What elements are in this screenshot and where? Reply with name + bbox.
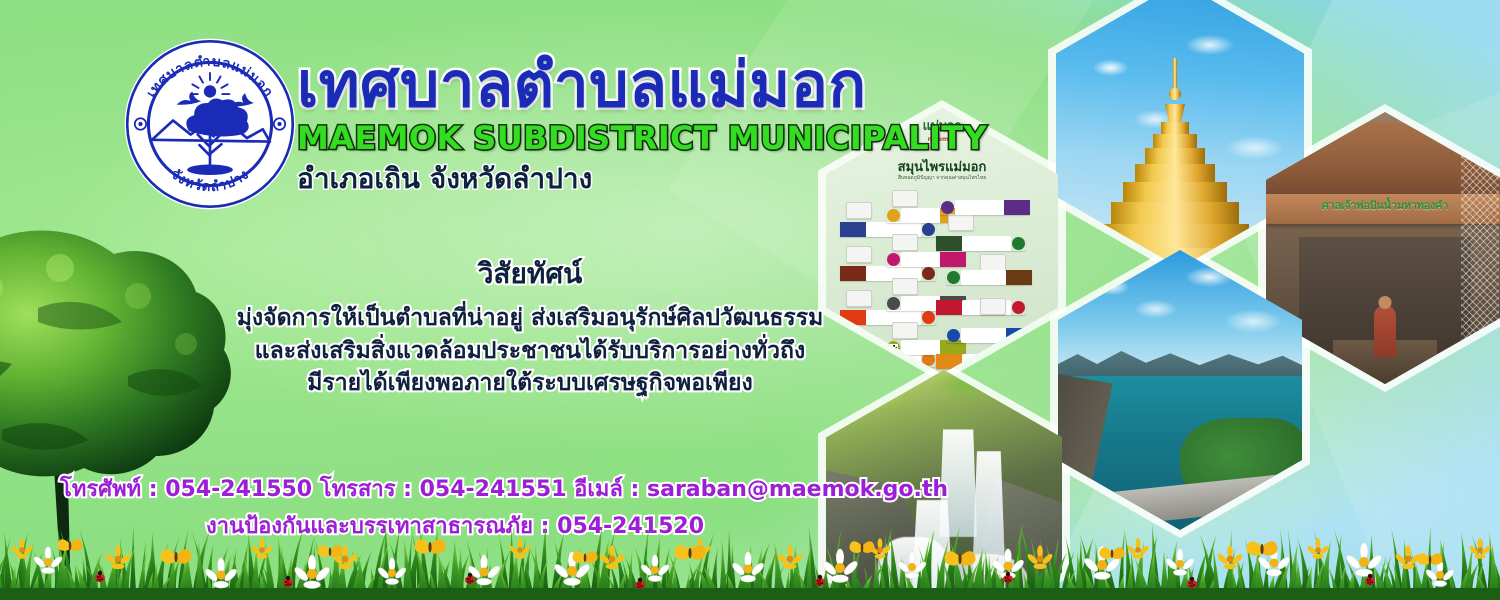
buddha-statue-icon xyxy=(1374,305,1396,357)
page-title-english: MAEMOK SUBDISTRICT MUNICIPALITY xyxy=(297,121,957,156)
header-title-block: เทศบาลตำบลแม่มอก MAEMOK SUBDISTRICT MUNI… xyxy=(297,52,957,196)
vision-line-2: และส่งเสริมสิ่งแวดล้อมประชาชนได้รับบริกา… xyxy=(230,335,830,368)
municipality-seal-logo: เทศบาลตำบลแม่มอก จังหวัดลำปาง xyxy=(122,36,298,212)
contact-line-primary[interactable]: โทรศัพท์ : 054-241550 โทรสาร : 054-24155… xyxy=(60,473,850,506)
vision-line-1: มุ่งจัดการให้เป็นตำบลที่น่าอยู่ ส่งเสริม… xyxy=(230,302,830,335)
poster-product-grid xyxy=(840,188,1044,340)
grass-flowers-footer xyxy=(0,504,1500,600)
vision-heading: วิสัยทัศน์ xyxy=(230,252,830,296)
page-subtitle-location: อำเภอเถิน จังหวัดลำปาง xyxy=(297,162,957,196)
banner-header: วัดพ บ้านกุ่ อำเภ ศาลเจ้าพ่อปันน้ำมหาทอง… xyxy=(0,0,1500,600)
vision-line-3: มีรายได้เพียงพอภายใต้ระบบเศรษฐกิจพอเพียง xyxy=(230,367,830,400)
vision-statement: วิสัยทัศน์ มุ่งจัดการให้เป็นตำบลที่น่าอย… xyxy=(230,252,830,400)
page-title: เทศบาลตำบลแม่มอก xyxy=(297,52,957,119)
